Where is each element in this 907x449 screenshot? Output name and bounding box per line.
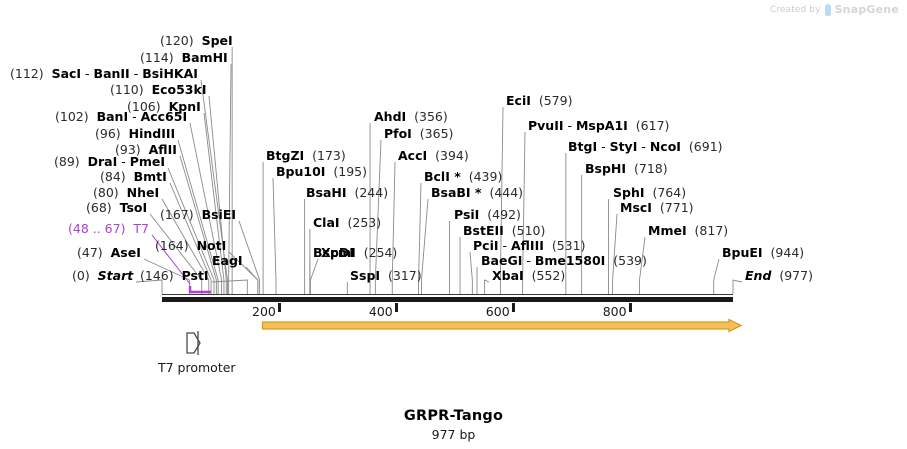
plasmid-length: 977 bp [0,427,907,442]
orf-arrow[interactable] [0,318,907,334]
ruler-tick-mark [395,303,398,312]
ruler-tick-label: 200 [252,304,276,319]
t7-promoter-label: T7 promoter [158,360,236,375]
title-block: GRPR-Tango 977 bp [0,408,907,442]
ruler-tick-label: 800 [603,304,627,319]
promoter-arrow-icon [182,330,204,356]
ruler-hairline [162,294,733,295]
plasmid-name: GRPR-Tango [0,408,907,424]
ruler-tick-label: 600 [486,304,510,319]
ruler-tick-mark [629,303,632,312]
ruler-tick-label: 400 [369,304,393,319]
sequence-ruler: 200400600800 [0,0,907,340]
snapgene-linear-map: Created by SnapGene (120) SpeI(114) BamH… [0,0,907,449]
ruler-bar [162,297,733,302]
ruler-tick-mark [278,303,281,312]
ruler-tick-mark [512,303,515,312]
